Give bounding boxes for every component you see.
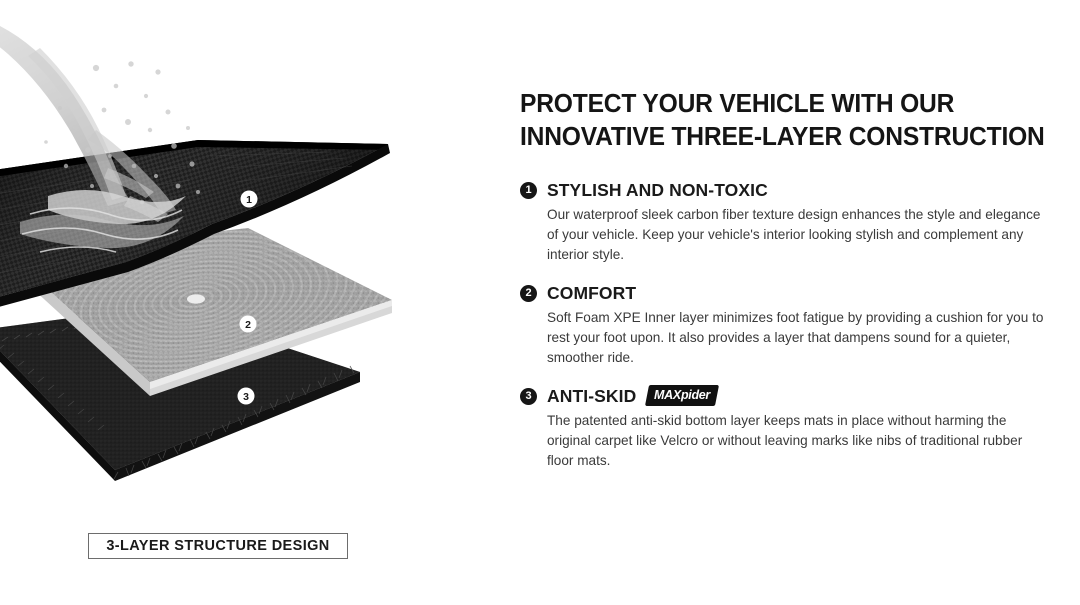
headline-line-2: INNOVATIVE THREE-LAYER CONSTRUCTION — [520, 121, 1031, 154]
structure-design-caption: 3-LAYER STRUCTURE DESIGN — [88, 533, 348, 559]
feature-title-2: COMFORT — [547, 283, 636, 304]
layer-badge-1: 1 — [241, 191, 258, 208]
feature-item-anti-skid: 3 ANTI-SKID MAXpider The patented anti-s… — [520, 386, 1050, 471]
layer-badge-2-label: 2 — [245, 319, 251, 331]
maxpider-brand-label: MAXpider — [654, 388, 710, 402]
layer-badge-3-label: 3 — [243, 391, 249, 403]
page-title: PROTECT YOUR VEHICLE WITH OUR INNOVATIVE… — [520, 88, 1031, 154]
feature-title-3: ANTI-SKID — [547, 386, 636, 407]
layer-badge-1-label: 1 — [246, 194, 252, 206]
feature-heading: 1 STYLISH AND NON-TOXIC — [520, 180, 1050, 201]
maxpider-brand-logo: MAXpider — [645, 385, 719, 406]
layer-badge-3: 3 — [238, 388, 255, 405]
feature-number-badge-2: 2 — [520, 285, 537, 302]
feature-number-badge-3: 3 — [520, 388, 537, 405]
feature-item-comfort: 2 COMFORT Soft Foam XPE Inner layer mini… — [520, 283, 1050, 368]
three-layer-mat-illustration: 3 — [0, 0, 500, 605]
feature-heading: 3 ANTI-SKID MAXpider — [520, 386, 1050, 407]
feature-body-3: The patented anti-skid bottom layer keep… — [520, 411, 1047, 471]
headline-line-1: PROTECT YOUR VEHICLE WITH OUR — [520, 88, 1031, 121]
feature-title-1: STYLISH AND NON-TOXIC — [547, 180, 768, 201]
feature-body-1: Our waterproof sleek carbon fiber textur… — [520, 205, 1047, 265]
feature-heading: 2 COMFORT — [520, 283, 1050, 304]
layer-badge-2: 2 — [240, 316, 257, 333]
structure-design-caption-label: 3-LAYER STRUCTURE DESIGN — [106, 538, 329, 554]
feature-content-column: PROTECT YOUR VEHICLE WITH OUR INNOVATIVE… — [520, 88, 1050, 471]
feature-item-stylish-and-non-toxic: 1 STYLISH AND NON-TOXIC Our waterproof s… — [520, 180, 1050, 265]
feature-number-badge-1: 1 — [520, 182, 537, 199]
feature-body-2: Soft Foam XPE Inner layer minimizes foot… — [520, 308, 1047, 368]
